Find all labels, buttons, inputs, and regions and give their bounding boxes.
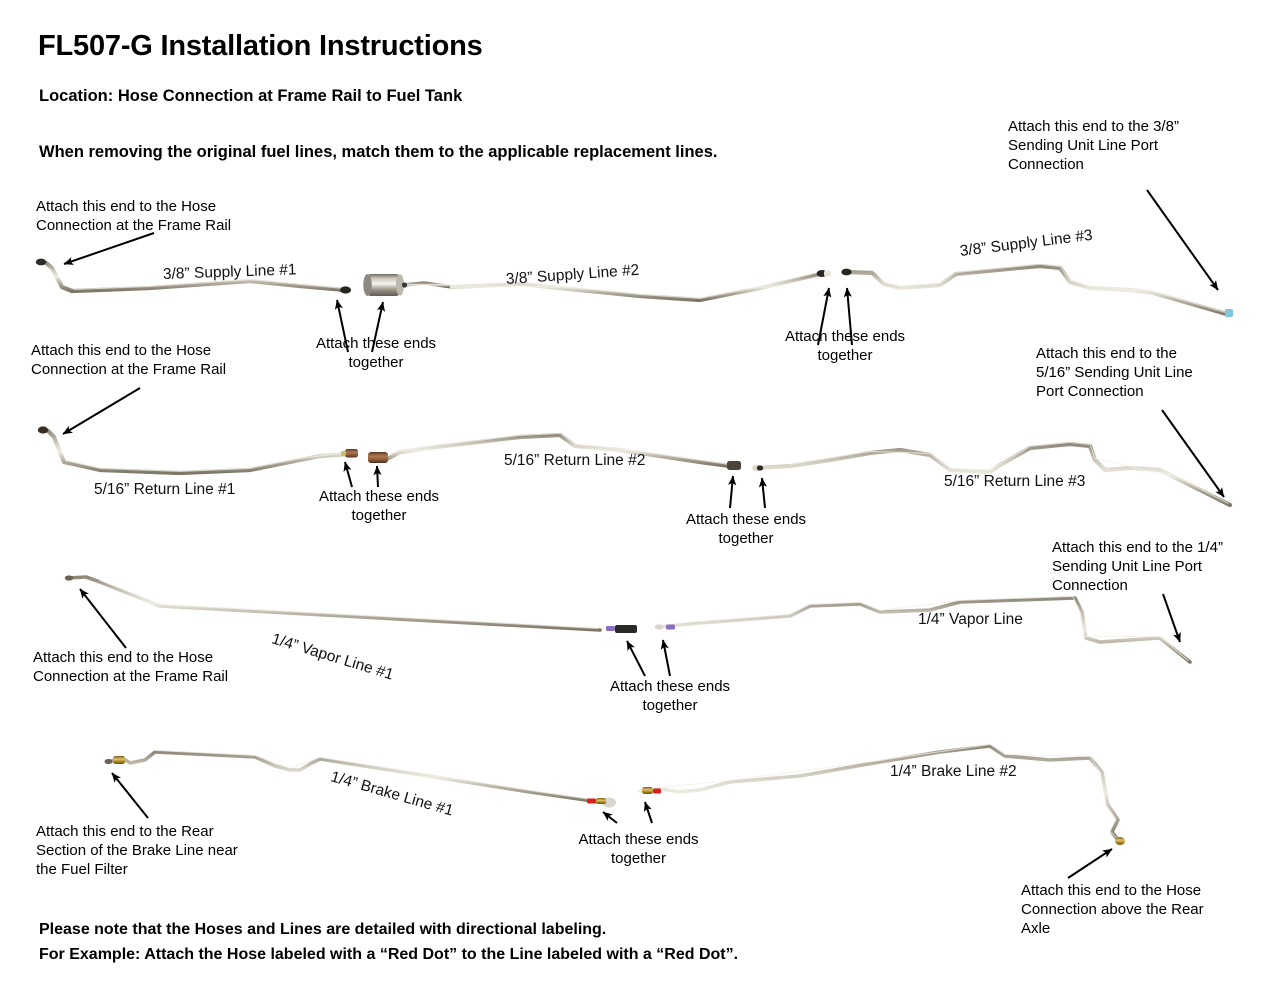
return-2-right-fitting xyxy=(727,461,741,470)
brake-2-right-brass-fitting xyxy=(1115,837,1125,845)
vapor-2-left-end-fitting xyxy=(655,624,663,629)
callout-return-frame-rail: Attach this end to the Hose Connection a… xyxy=(31,341,226,379)
arrow-vapor-left-end xyxy=(80,589,126,648)
return-1-right-fitting xyxy=(345,449,358,458)
return-2-left-fitting xyxy=(368,452,388,463)
supply-3-left-end-fitting xyxy=(841,269,851,276)
arrow-brake-join-a xyxy=(603,812,617,823)
callout-vapor-join: Attach these ends together xyxy=(600,677,740,715)
page-title: FL507-G Installation Instructions xyxy=(38,30,483,63)
brake-1-red-dot xyxy=(587,799,596,804)
vapor-line-1-graphic xyxy=(65,575,637,633)
vapor-2-purple-dot xyxy=(666,625,675,630)
callout-brake-rear-axle: Attach this end to the Hose Connection a… xyxy=(1021,881,1204,939)
location-line: Location: Hose Connection at Frame Rail … xyxy=(39,87,462,106)
line-label-return-2: 5/16” Return Line #2 xyxy=(504,452,645,470)
callout-return-join-2: Attach these ends together xyxy=(676,510,816,548)
callout-brake-rear-section: Attach this end to the Rear Section of t… xyxy=(36,822,238,880)
line-label-brake-2: 1/4” Brake Line #2 xyxy=(890,763,1017,781)
brake-2-left-brass-fitting xyxy=(642,787,653,794)
brake-2-red-dot xyxy=(653,789,661,794)
callout-brake-join: Attach these ends together xyxy=(566,830,711,868)
arrow-return-join-d xyxy=(762,478,765,508)
return-3-left-end-fitting xyxy=(752,465,762,472)
arrow-brake-rear-axle xyxy=(1068,849,1112,878)
supply-2-right-end-fitting xyxy=(817,270,828,277)
fuel-filter-canister xyxy=(363,274,452,296)
line-label-return-1: 5/16” Return Line #1 xyxy=(94,481,235,499)
arrow-vapor-join-a xyxy=(627,641,645,676)
arrow-supply-left-end xyxy=(64,233,154,264)
callout-vapor-sending-unit: Attach this end to the 1/4” Sending Unit… xyxy=(1052,538,1223,596)
installation-instructions-page: FL507-G Installation Instructions Locati… xyxy=(0,0,1280,989)
vapor-line-2-graphic xyxy=(655,596,1190,662)
arrow-return-left-end xyxy=(63,388,140,434)
line-label-vapor-2: 1/4” Vapor Line xyxy=(918,611,1023,629)
matching-instruction: When removing the original fuel lines, m… xyxy=(39,143,717,162)
directional-labeling-note: Please note that the Hoses and Lines are… xyxy=(39,918,738,968)
supply-1-right-end-fitting xyxy=(340,286,351,293)
arrow-return-sending-unit xyxy=(1162,410,1224,497)
supply-line-3-graphic xyxy=(841,264,1233,317)
vapor-1-purple-dot xyxy=(606,626,615,631)
arrow-return-join-c xyxy=(730,476,733,508)
supply-1-left-end-fitting xyxy=(36,259,46,266)
brake-line-2-graphic xyxy=(640,744,1125,845)
line-label-supply-3: 3/8” Supply Line #3 xyxy=(959,227,1094,261)
callout-vapor-frame-rail: Attach this end to the Hose Connection a… xyxy=(33,648,228,686)
callout-supply-join-1: Attach these ends together xyxy=(306,334,446,372)
arrow-brake-join-b xyxy=(645,802,652,823)
line-label-supply-2: 3/8” Supply Line #2 xyxy=(505,262,640,289)
callout-supply-join-2: Attach these ends together xyxy=(775,327,915,365)
arrow-return-join-a xyxy=(345,462,352,487)
callout-return-sending-unit: Attach this end to the 5/16” Sending Uni… xyxy=(1036,344,1193,402)
arrow-vapor-sending-unit xyxy=(1163,594,1180,642)
line-label-return-3: 5/16” Return Line #3 xyxy=(944,473,1085,491)
arrow-supply-sending-unit xyxy=(1147,190,1218,290)
brake-1-left-brass-fitting xyxy=(113,756,125,764)
return-1-left-end-fitting xyxy=(38,426,48,433)
vapor-1-right-fitting xyxy=(615,625,637,633)
line-label-brake-1: 1/4” Brake Line #1 xyxy=(329,768,456,820)
arrow-brake-left-end xyxy=(112,773,148,818)
line-label-vapor-1: 1/4” Vapor Line #1 xyxy=(269,630,395,684)
brake-1-right-end-cap xyxy=(602,798,616,808)
arrow-vapor-join-b xyxy=(663,640,670,676)
line-label-supply-1: 3/8” Supply Line #1 xyxy=(163,261,297,284)
arrow-return-join-b xyxy=(377,466,378,487)
return-line-1-graphic xyxy=(38,426,358,473)
supply-3-right-end-cap xyxy=(1225,309,1233,317)
callout-return-join-1: Attach these ends together xyxy=(309,487,449,525)
brake-1-right-brass-fitting xyxy=(596,798,606,804)
callout-supply-sending-unit: Attach this end to the 3/8” Sending Unit… xyxy=(1008,117,1179,175)
callout-supply-frame-rail: Attach this end to the Hose Connection a… xyxy=(36,197,231,235)
vapor-1-left-end-fitting xyxy=(65,575,73,580)
